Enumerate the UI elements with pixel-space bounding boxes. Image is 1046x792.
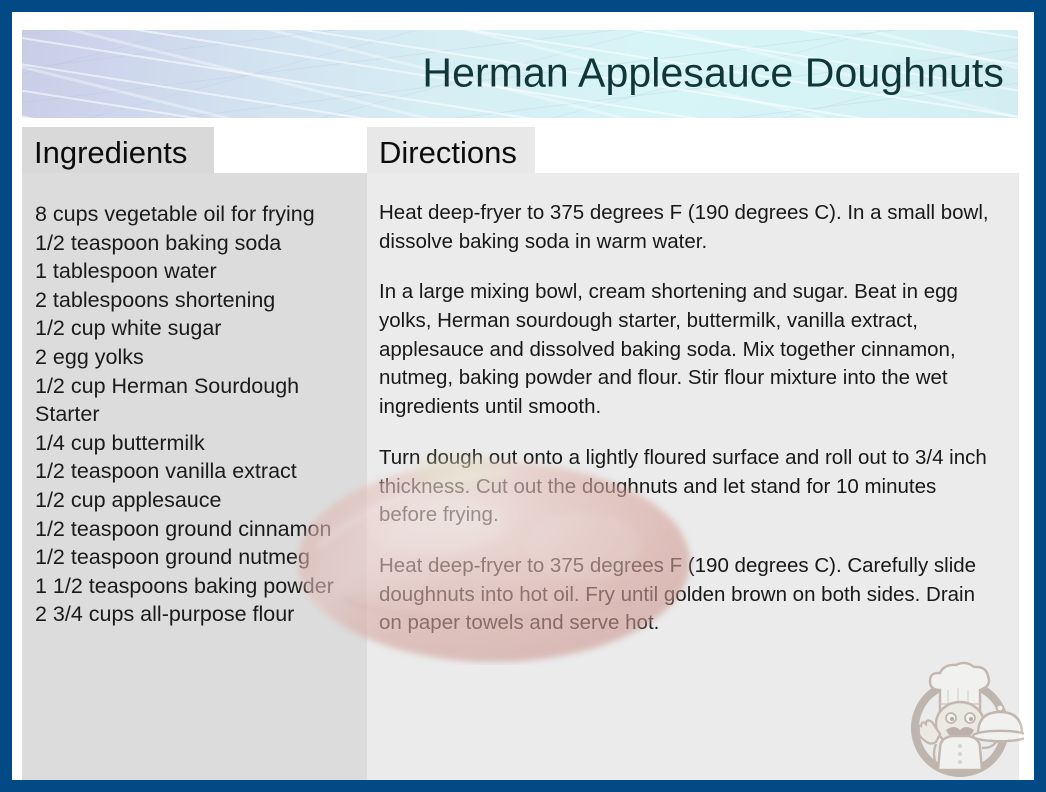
- list-item: 1/2 teaspoon ground cinnamon: [35, 515, 359, 544]
- direction-paragraph: In a large mixing bowl, cream shortening…: [379, 278, 993, 421]
- slide-frame: Herman Applesauce Doughnuts Ingredients …: [0, 0, 1046, 792]
- ingredients-heading: Ingredients: [34, 137, 187, 168]
- ingredients-section: Ingredients 8 cups vegetable oil for fry…: [22, 127, 367, 780]
- ingredients-header-tab: Ingredients: [22, 127, 214, 173]
- directions-header-tab: Directions: [367, 127, 535, 173]
- list-item: 2 tablespoons shortening: [35, 286, 359, 315]
- recipe-page: Herman Applesauce Doughnuts Ingredients …: [12, 12, 1034, 780]
- direction-paragraph: Heat deep-fryer to 375 degrees F (190 de…: [379, 199, 993, 256]
- list-item: 1/2 cup Herman Sourdough Starter: [35, 372, 359, 429]
- direction-paragraph: Turn dough out onto a lightly floured su…: [379, 444, 993, 530]
- list-item: 1/2 teaspoon ground nutmeg: [35, 543, 359, 572]
- list-item: 2 egg yolks: [35, 343, 359, 372]
- list-item: 1/2 cup applesauce: [35, 486, 359, 515]
- list-item: 1/2 teaspoon vanilla extract: [35, 457, 359, 486]
- ingredient-list: 8 cups vegetable oil for frying 1/2 teas…: [22, 173, 367, 629]
- directions-section: Directions Heat deep-fryer to 375 degree…: [367, 127, 1019, 780]
- list-item: 8 cups vegetable oil for frying: [35, 200, 359, 229]
- list-item: 1 tablespoon water: [35, 257, 359, 286]
- list-item: 1/2 teaspoon baking soda: [35, 229, 359, 258]
- title-banner: Herman Applesauce Doughnuts: [22, 30, 1018, 118]
- directions-heading: Directions: [379, 137, 517, 168]
- direction-paragraph-list: Heat deep-fryer to 375 degrees F (190 de…: [367, 173, 1019, 638]
- list-item: 1/4 cup buttermilk: [35, 429, 359, 458]
- directions-panel: Heat deep-fryer to 375 degrees F (190 de…: [367, 173, 1019, 780]
- list-item: 1 1/2 teaspoons baking powder: [35, 572, 359, 601]
- list-item: 1/2 cup white sugar: [35, 314, 359, 343]
- direction-paragraph: Heat deep-fryer to 375 degrees F (190 de…: [379, 552, 993, 638]
- list-item: 2 3/4 cups all-purpose flour: [35, 600, 359, 629]
- ingredients-panel: 8 cups vegetable oil for frying 1/2 teas…: [22, 173, 367, 780]
- page-title: Herman Applesauce Doughnuts: [422, 50, 1004, 97]
